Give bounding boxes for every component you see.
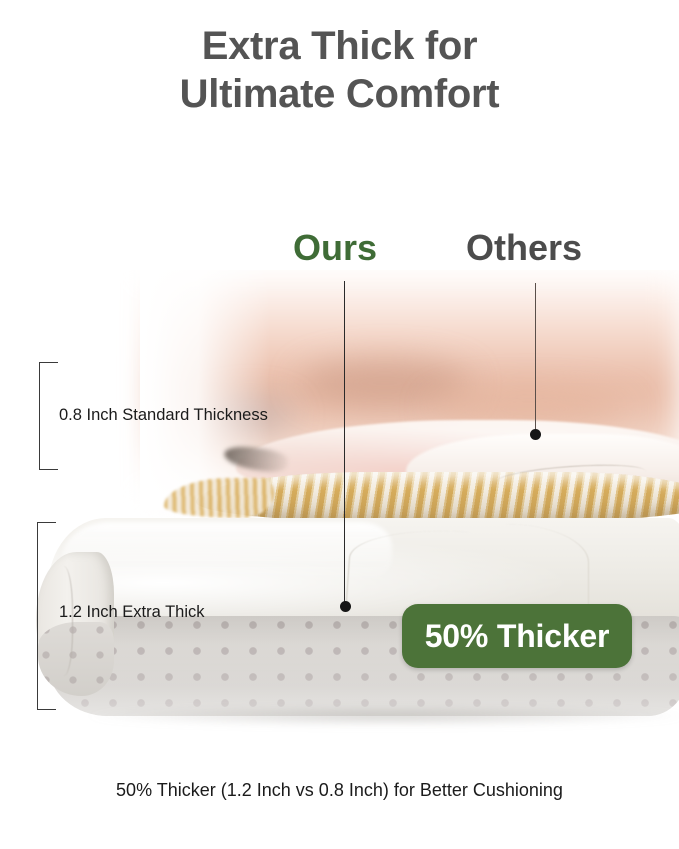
- leader-line-others: [535, 283, 536, 434]
- page-title: Extra Thick for Ultimate Comfort: [0, 22, 679, 118]
- leader-line-ours: [344, 281, 345, 606]
- thick-mat-ground-shadow: [88, 706, 679, 726]
- footer-caption: 50% Thicker (1.2 Inch vs 0.8 Inch) for B…: [0, 778, 679, 802]
- callout-label-others: Others: [466, 228, 582, 268]
- product-photo: [0, 270, 679, 740]
- measurement-label-extra: 1.2 Inch Extra Thick: [59, 602, 205, 622]
- leader-dot-others: [530, 429, 541, 440]
- leader-dot-ours: [340, 601, 351, 612]
- bracket-extra-thickness: [37, 522, 56, 710]
- product-infographic: Extra Thick for Ultimate Comfort: [0, 0, 679, 849]
- bracket-standard-thickness: [39, 362, 58, 470]
- measurement-label-standard: 0.8 Inch Standard Thickness: [59, 405, 268, 425]
- status-badge-thicker: 50% Thicker: [402, 604, 632, 668]
- callout-label-ours: Ours: [293, 228, 377, 268]
